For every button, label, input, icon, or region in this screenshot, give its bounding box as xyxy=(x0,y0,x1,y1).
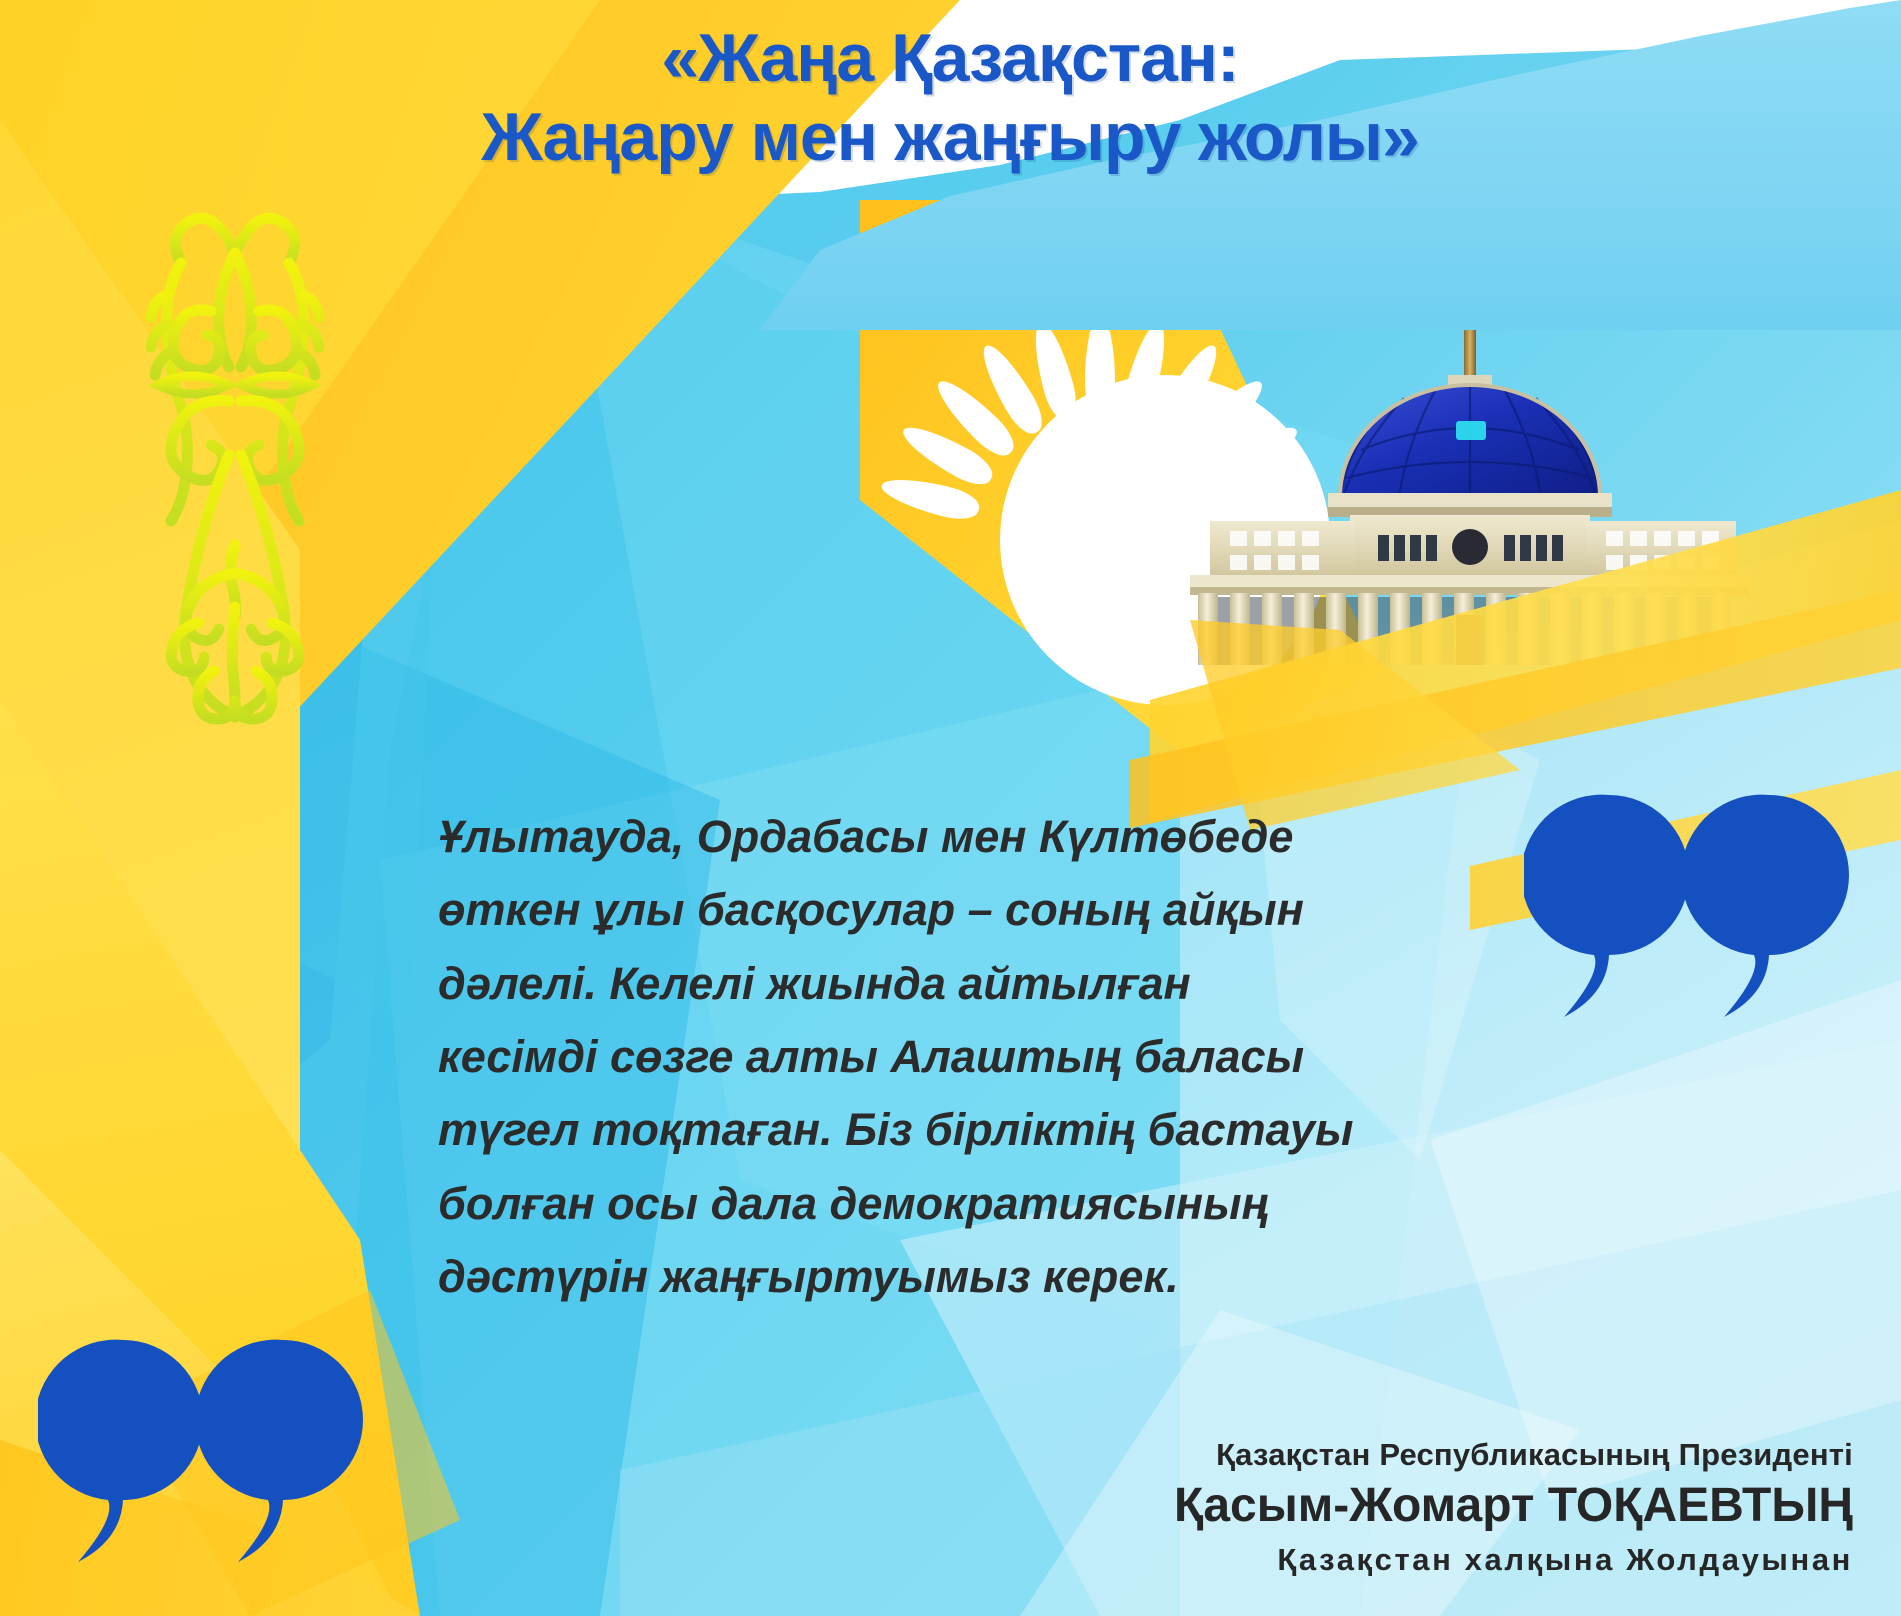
title-line-2: Жаңару мен жаңғыру жолы» xyxy=(300,101,1600,174)
page-title: «Жаңа Қазақстан: Жаңару мен жаңғыру жолы… xyxy=(300,22,1600,175)
quote-text: Ұлытауда, Ордабасы мен Күлтөбедеөткен ұл… xyxy=(438,800,1468,1313)
quote-line-2: өткен ұлы басқосулар – соның айқын xyxy=(438,873,1468,946)
attribution-source: Қазақстан халқына Жолдауынан xyxy=(1174,1540,1853,1580)
title-line-1: «Жаңа Қазақстан: xyxy=(300,22,1600,95)
quote-line-3: дәлелі. Келелі жиында айтылған xyxy=(438,947,1468,1020)
sun-ray xyxy=(1085,315,1115,415)
quote-line-4: кесімді сөзге алты Алаштың баласы xyxy=(438,1020,1468,1093)
attribution-role: Қазақстан Республикасының Президенті xyxy=(1174,1436,1853,1475)
closing-quote-mark-icon-left xyxy=(38,1335,398,1565)
quote-line-1: Ұлытауда, Ордабасы мен Күлтөбеде xyxy=(438,800,1468,873)
poster-canvas: «Жаңа Қазақстан: Жаңару мен жаңғыру жолы… xyxy=(0,0,1901,1616)
kazakh-ornament-icon xyxy=(128,155,343,765)
quote-line-6: болған осы дала демократиясының xyxy=(438,1167,1468,1240)
quote-line-5: түгел тоқтаған. Біз бірліктің бастауы xyxy=(438,1093,1468,1166)
closing-quote-mark-icon-right xyxy=(1524,790,1884,1020)
attribution-name: Қасым-Жомарт ТОҚАЕВТЫҢ xyxy=(1174,1477,1853,1536)
attribution-block: Қазақстан Республикасының Президенті Қас… xyxy=(1174,1436,1853,1580)
quote-line-7: дәстүрін жаңғыртуымыз керек. xyxy=(438,1240,1468,1313)
